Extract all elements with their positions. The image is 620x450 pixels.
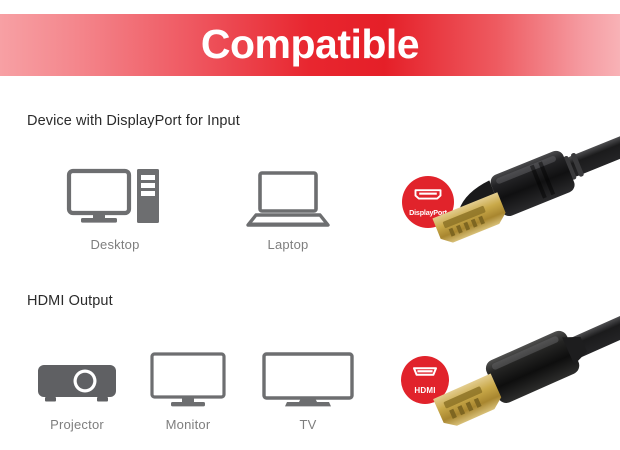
hdmi-connector-icon bbox=[411, 365, 439, 383]
badge-hdmi: HDMI bbox=[401, 356, 449, 404]
compatible-banner: Compatible bbox=[0, 14, 620, 76]
device-caption: Projector bbox=[22, 417, 132, 432]
monitor-icon bbox=[133, 345, 243, 409]
displayport-cable-icon bbox=[426, 105, 620, 247]
device-caption: Desktop bbox=[55, 237, 175, 252]
badge-displayport: DisplayPort bbox=[402, 176, 454, 228]
device-monitor: Monitor bbox=[133, 345, 243, 432]
device-tv: TV bbox=[253, 345, 363, 432]
section-heading-hdmi-output: HDMI Output bbox=[27, 293, 113, 309]
page-title: Compatible bbox=[201, 24, 419, 65]
laptop-icon bbox=[228, 165, 348, 229]
device-caption: Monitor bbox=[133, 417, 243, 432]
displayport-connector-icon bbox=[413, 188, 443, 206]
device-desktop: Desktop bbox=[55, 165, 175, 252]
device-projector: Projector bbox=[22, 345, 132, 432]
section-heading-displayport-input: Device with DisplayPort for Input bbox=[27, 113, 240, 129]
badge-label: DisplayPort bbox=[409, 209, 447, 216]
projector-icon bbox=[22, 345, 132, 409]
device-caption: Laptop bbox=[228, 237, 348, 252]
tv-icon bbox=[253, 345, 363, 409]
device-caption: TV bbox=[253, 417, 363, 432]
desktop-computer-icon bbox=[55, 165, 175, 229]
hdmi-cable-icon bbox=[428, 281, 620, 430]
badge-label: HDMI bbox=[414, 387, 435, 395]
device-laptop: Laptop bbox=[228, 165, 348, 252]
